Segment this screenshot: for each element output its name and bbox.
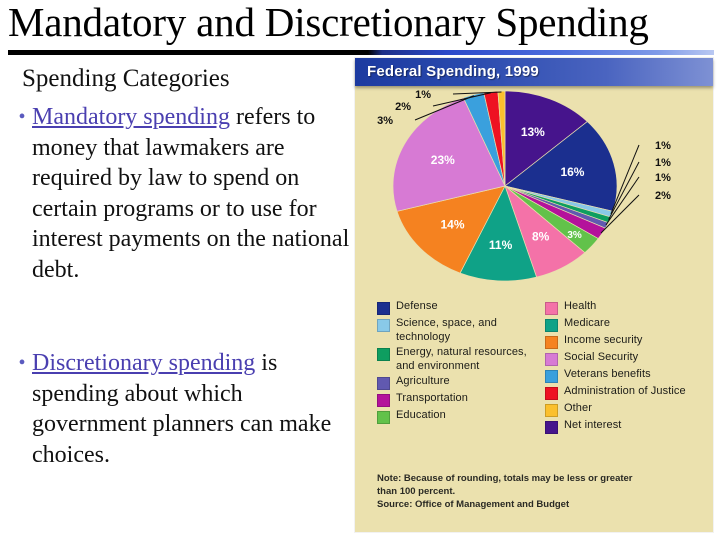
pie-callout-label: 1% — [655, 140, 671, 152]
legend-item-label: Income security — [564, 334, 643, 348]
content-text-column: Spending Categories • Mandatory spending… — [0, 62, 352, 532]
legend-item-label: Social Security — [564, 351, 638, 365]
footnote-line-2: than 100 percent. — [377, 485, 697, 498]
legend-item-label: Defense — [396, 300, 438, 314]
bullet-text: Discretionary spending is spending about… — [32, 348, 350, 470]
legend-swatch-icon — [545, 387, 558, 400]
legend-item-label: Net interest — [564, 419, 621, 433]
legend-item: Social Security — [545, 351, 707, 366]
legend-swatch-icon — [545, 370, 558, 383]
legend-swatch-icon — [545, 353, 558, 366]
legend-swatch-icon — [377, 377, 390, 390]
legend-swatch-icon — [545, 336, 558, 349]
link-discretionary-spending[interactable]: Discretionary spending — [32, 350, 255, 376]
legend-item: Transportation — [377, 392, 539, 407]
bullet-text: Mandatory spending refers to money that … — [32, 102, 350, 285]
pie-value-label: 3% — [567, 230, 582, 241]
subheading: Spending Categories — [22, 64, 230, 94]
pie-value-label: 16% — [560, 165, 584, 179]
bullet-body-text: refers to money that lawmakers are requi… — [32, 104, 349, 283]
pie-value-label: 23% — [431, 153, 455, 167]
legend-swatch-icon — [377, 302, 390, 315]
legend-item-label: Administration of Justice — [564, 385, 686, 399]
legend-item: Other — [545, 402, 707, 417]
legend-item-label: Agriculture — [396, 375, 450, 389]
pie-callout-label: 2% — [395, 101, 411, 113]
legend-column-left: DefenseScience, space, and technologyEne… — [377, 300, 539, 465]
pie-chart: 13%16%3%8%11%14%23%1%1%1%2%3%2%1% — [355, 86, 713, 296]
legend-item: Defense — [377, 300, 539, 315]
legend-item-label: Veterans benefits — [564, 368, 651, 382]
chart-title: Federal Spending, 1999 — [367, 63, 539, 80]
pie-value-label: 14% — [441, 218, 465, 232]
bullet-marker: • — [12, 348, 32, 470]
legend-item: Income security — [545, 334, 707, 349]
chart-header-bar: Federal Spending, 1999 — [355, 58, 713, 86]
legend-swatch-icon — [545, 404, 558, 417]
chart-footnote: Note: Because of rounding, totals may be… — [377, 472, 697, 511]
legend-swatch-icon — [377, 319, 390, 332]
legend-item: Science, space, and technology — [377, 317, 539, 344]
title-underline-rule — [8, 50, 714, 55]
legend-item-label: Medicare — [564, 317, 610, 331]
pie-callout-label: 1% — [415, 89, 431, 101]
pie-value-label: 11% — [489, 238, 513, 252]
footnote-line-3: Source: Office of Management and Budget — [377, 498, 697, 511]
pie-value-label: 8% — [532, 230, 550, 244]
legend-item-label: Education — [396, 409, 446, 423]
legend-swatch-icon — [377, 411, 390, 424]
legend-item-label: Science, space, and technology — [396, 317, 539, 344]
legend-swatch-icon — [377, 394, 390, 407]
bullet-item-mandatory: • Mandatory spending refers to money tha… — [12, 102, 350, 285]
legend-item-label: Energy, natural resources, and environme… — [396, 346, 539, 373]
legend-swatch-icon — [545, 319, 558, 332]
legend-item: Administration of Justice — [545, 385, 707, 400]
legend-item-label: Health — [564, 300, 596, 314]
legend-item-label: Transportation — [396, 392, 468, 406]
legend-swatch-icon — [377, 348, 390, 361]
chart-legend: DefenseScience, space, and technologyEne… — [377, 300, 707, 465]
bullet-marker: • — [12, 102, 32, 285]
legend-column-right: HealthMedicareIncome securitySocial Secu… — [545, 300, 707, 465]
pie-value-label: 13% — [521, 125, 545, 139]
pie-callout-label: 3% — [377, 115, 393, 127]
legend-item: Health — [545, 300, 707, 315]
pie-callout-label: 2% — [655, 190, 671, 202]
footnote-line-1: Note: Because of rounding, totals may be… — [377, 472, 697, 485]
legend-item: Medicare — [545, 317, 707, 332]
pie-callout-label: 1% — [655, 157, 671, 169]
legend-item: Agriculture — [377, 375, 539, 390]
legend-item: Energy, natural resources, and environme… — [377, 346, 539, 373]
federal-spending-chart-panel: Federal Spending, 1999 13%16%3%8%11%14%2… — [355, 58, 713, 532]
legend-swatch-icon — [545, 302, 558, 315]
pie-callout-label: 1% — [655, 172, 671, 184]
legend-item: Education — [377, 409, 539, 424]
legend-item: Veterans benefits — [545, 368, 707, 383]
legend-item-label: Other — [564, 402, 592, 416]
bullet-item-discretionary: • Discretionary spending is spending abo… — [12, 348, 350, 470]
link-mandatory-spending[interactable]: Mandatory spending — [32, 104, 230, 130]
page-title: Mandatory and Discretionary Spending — [8, 0, 720, 46]
legend-item: Net interest — [545, 419, 707, 434]
slide-title-area: Mandatory and Discretionary Spending — [0, 0, 720, 58]
pie-chart-svg: 13%16%3%8%11%14%23%1%1%1%2%3%2%1% — [355, 86, 713, 296]
legend-swatch-icon — [545, 421, 558, 434]
